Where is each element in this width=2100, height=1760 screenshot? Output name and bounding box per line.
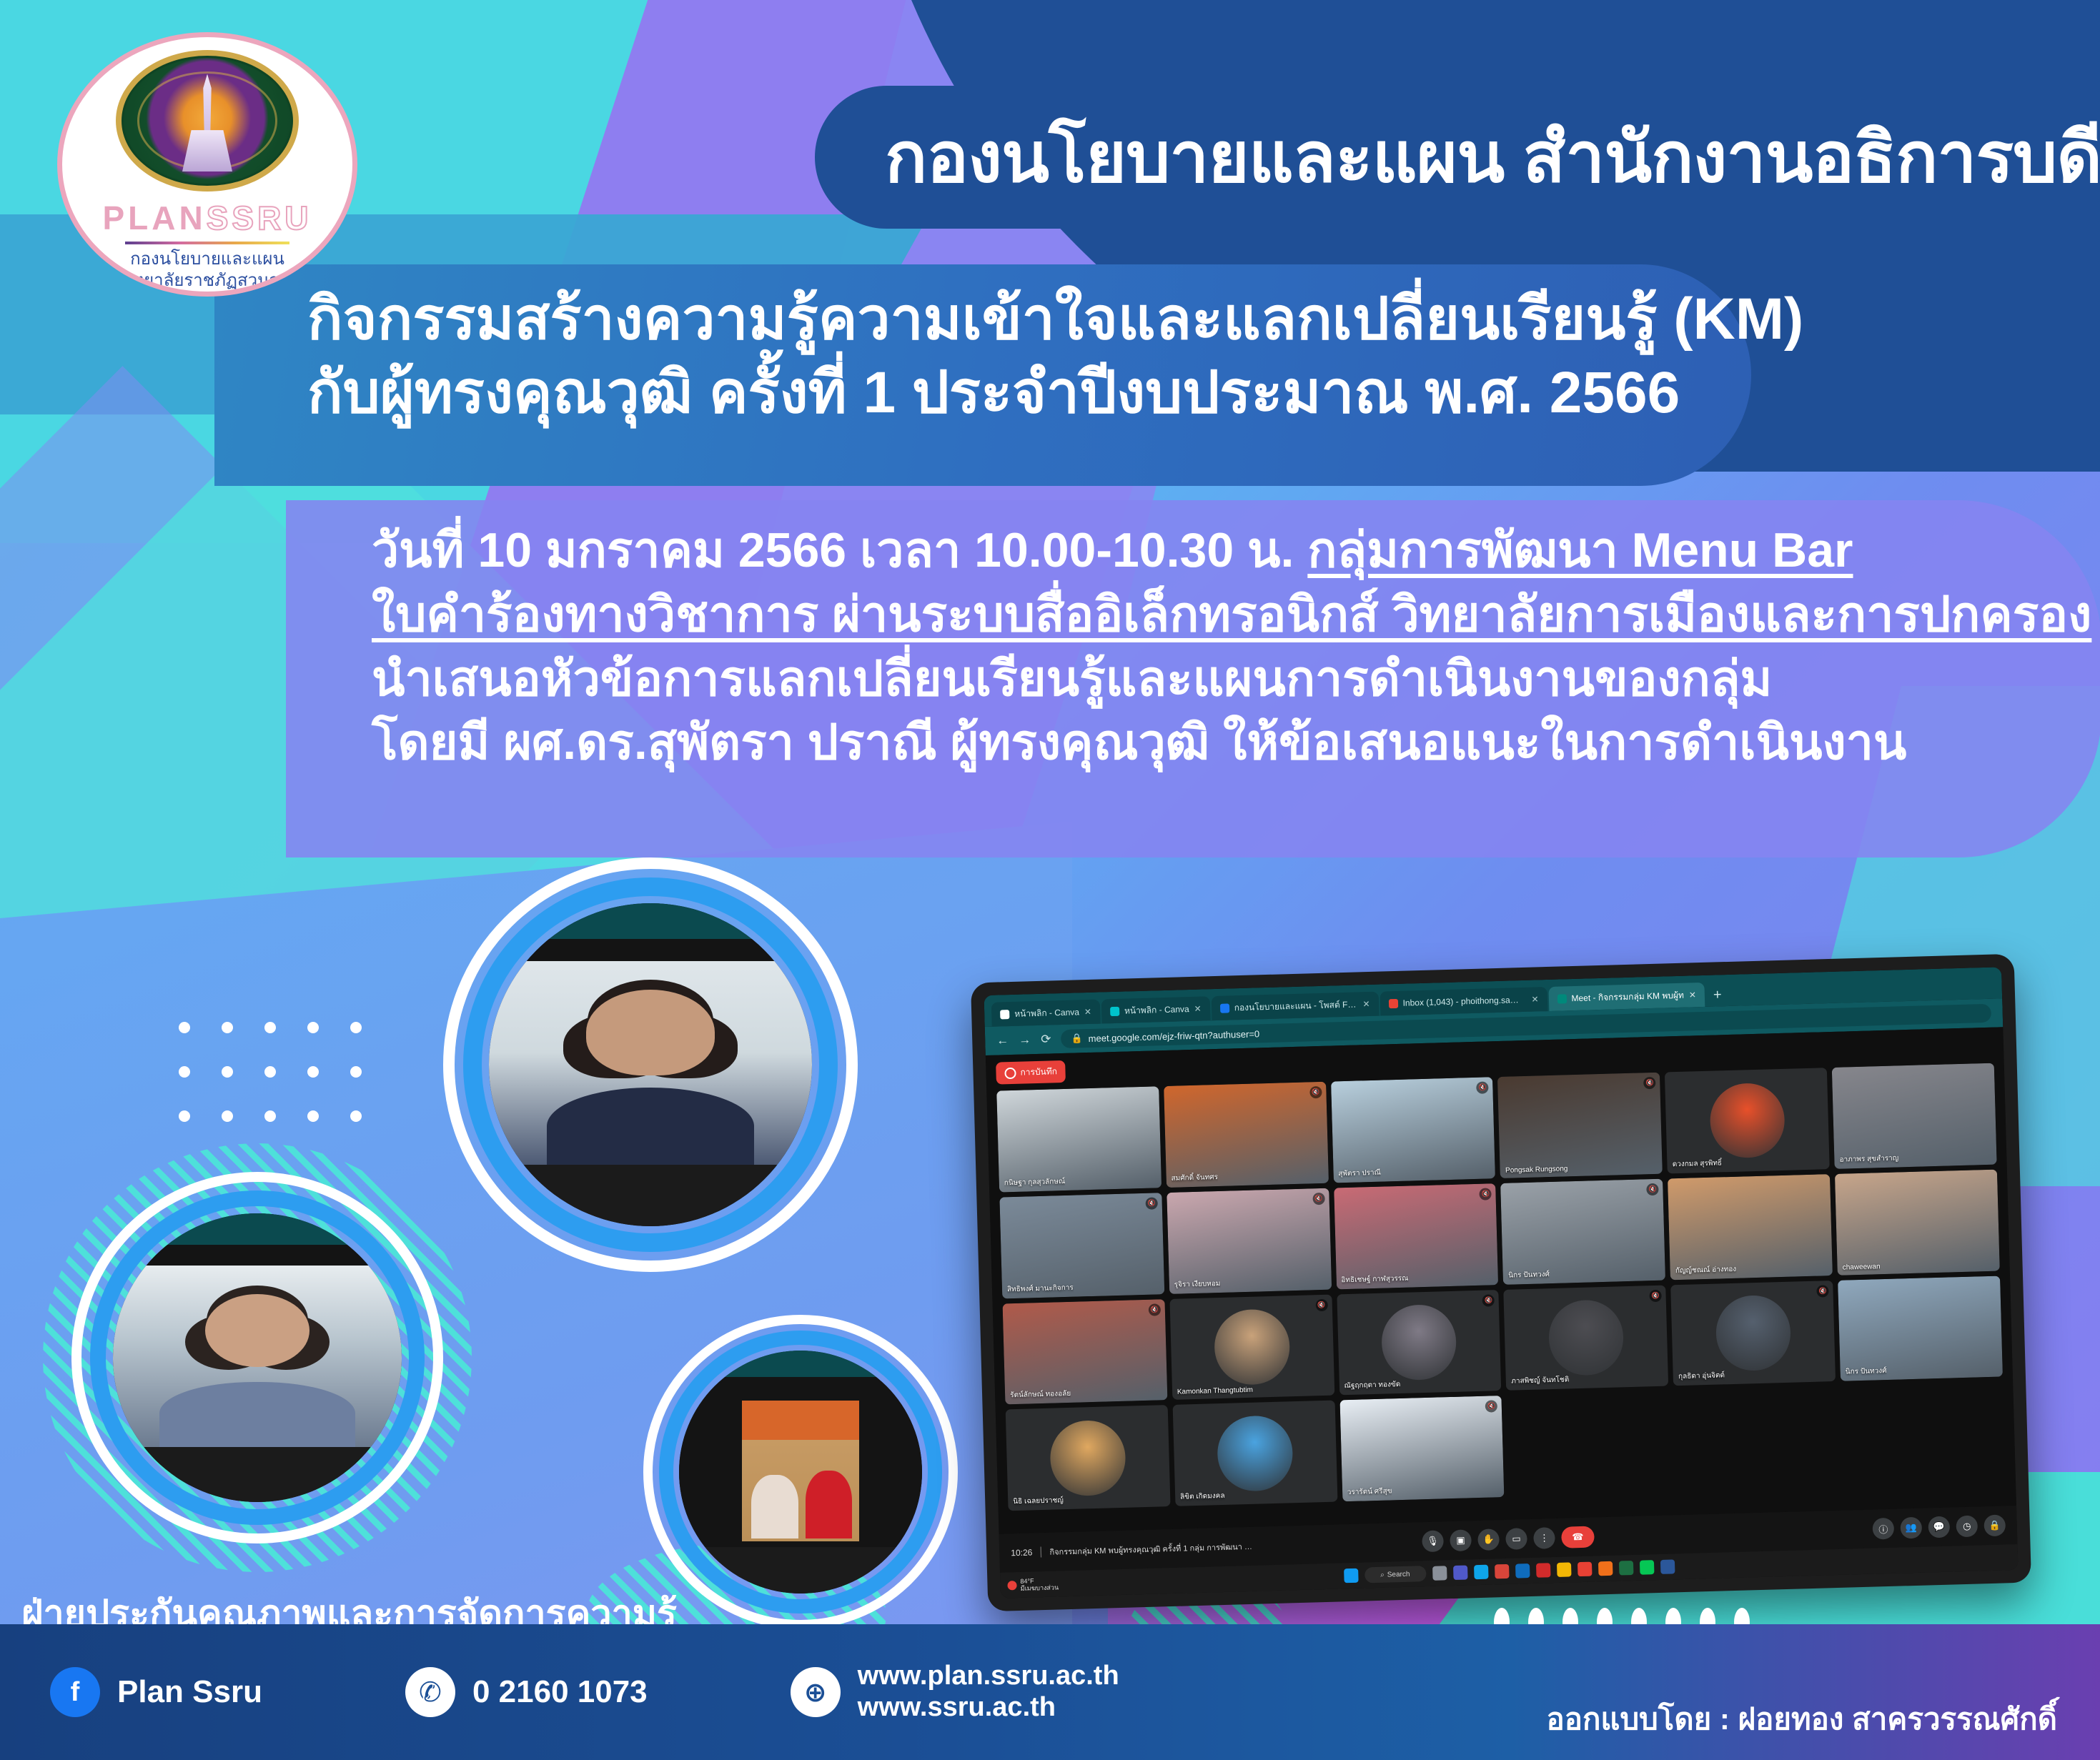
store-icon[interactable] — [1495, 1564, 1510, 1579]
participant-name: สิทธิพงศ์ มานะกิจการ — [1007, 1282, 1074, 1295]
participant-video — [1164, 1082, 1329, 1188]
participant-video — [1668, 1174, 1833, 1280]
mic-icon[interactable]: 🎙 — [1422, 1530, 1444, 1552]
avatar — [1709, 1083, 1786, 1159]
mic-muted-icon: 🔇 — [1148, 1303, 1160, 1316]
meet-right-controls: ⓘ 👥 💬 ◷ 🔒 — [1872, 1514, 2006, 1539]
end-call-icon[interactable]: ☎ — [1561, 1526, 1595, 1548]
body-line-4: โดยมี ผศ.ดร.สุพัตรา ปราณี ผู้ทรงคุณวุฒิ … — [372, 711, 2100, 775]
activities-icon[interactable]: ◷ — [1956, 1516, 1978, 1538]
phone-icon: ✆ — [405, 1667, 455, 1717]
participant-tile[interactable]: ดวงกมล สุรพิทธิ์ — [1665, 1068, 1830, 1173]
participant-video — [996, 1086, 1162, 1192]
participant-tile[interactable]: 🔇Kamonkan Thangtubtim — [1169, 1294, 1334, 1400]
weather-temp: 84°F — [1020, 1577, 1034, 1585]
more-icon[interactable]: ⋮ — [1533, 1527, 1555, 1549]
mic-muted-icon: 🔇 — [1309, 1086, 1322, 1098]
browser-tab-label: กองนโยบายและแผน - โพสต์ Facebook — [1234, 998, 1357, 1015]
avatar — [1715, 1295, 1791, 1371]
avatar — [1381, 1304, 1457, 1381]
meet-separator: | — [1039, 1546, 1043, 1558]
logo-subtitle-line1: กองนโยบายและแผน — [91, 249, 325, 270]
close-icon[interactable]: ✕ — [1194, 1004, 1201, 1014]
reload-icon[interactable]: ⟳ — [1041, 1032, 1051, 1046]
meet-controls: 🎙 ▣ ✋ ▭ ⋮ ☎ — [1422, 1526, 1595, 1553]
participant-tile[interactable]: 🔇สุพัตรา ปราณี — [1331, 1077, 1496, 1183]
body-line-1: วันที่ 10 มกราคม 2566 เวลา 10.00-10.30 น… — [372, 519, 2100, 583]
taskbar-search-label: Search — [1387, 1570, 1410, 1578]
participant-video — [1832, 1063, 1997, 1169]
participant-name: นิกร ปันทวงศ์ — [1846, 1366, 1887, 1378]
body-detail-band: วันที่ 10 มกราคม 2566 เวลา 10.00-10.30 น… — [286, 500, 2100, 857]
footer-website[interactable]: ⊕ www.plan.ssru.ac.th www.ssru.ac.th — [791, 1661, 1119, 1723]
participant-name: สมศักดิ์ จันทศร — [1171, 1172, 1218, 1184]
participant-tile[interactable]: 🔇สิทธิพงศ์ มานะกิจการ — [999, 1193, 1164, 1298]
teams-icon[interactable] — [1453, 1565, 1468, 1580]
laptop-screenshot: หน้าพลิก - Canva✕หน้าพลิก - Canva✕กองนโย… — [971, 954, 2031, 1611]
participant-video — [1501, 1178, 1666, 1284]
footer-phone[interactable]: ✆ 0 2160 1073 — [405, 1667, 648, 1717]
chat-icon[interactable]: 💬 — [1928, 1516, 1950, 1538]
participant-tile[interactable]: 🔇นิกร ปันทวงศ์ — [1501, 1178, 1666, 1284]
mic-muted-icon: 🔇 — [1816, 1285, 1828, 1297]
meet-time: 10:26 — [1011, 1547, 1032, 1558]
logo-ssru-text: SSRU — [207, 199, 312, 237]
participant-photo-a — [489, 903, 812, 1226]
weather-desc: มีเมฆบางส่วน — [1021, 1583, 1059, 1591]
windows-start-icon[interactable] — [1344, 1568, 1359, 1583]
body-line-1-underlined: กลุ่มการพัฒนา Menu Bar — [1307, 523, 1853, 577]
participant-video — [1003, 1299, 1168, 1405]
dot-grid-decor — [179, 1022, 393, 1155]
mic-muted-icon: 🔇 — [1482, 1294, 1495, 1306]
search-icon: ⌕ — [1380, 1571, 1385, 1578]
participant-tile[interactable]: 🔇สมศักดิ์ จันทศร — [1164, 1082, 1329, 1188]
participant-tile[interactable]: 🔇ณัฐฤกฤตา ทองขัด — [1337, 1290, 1502, 1396]
mic-muted-icon: 🔇 — [1312, 1193, 1324, 1205]
recording-badge: การบันทึก — [996, 1060, 1066, 1085]
participant-tile[interactable]: 🔇ภาสพิชญ์ จันทโชติ — [1504, 1285, 1669, 1391]
browser-tab-label: หน้าพลิก - Canva — [1124, 1003, 1189, 1018]
logo-wordmark: PLANSSRU — [102, 199, 312, 237]
firefox-icon[interactable] — [1598, 1561, 1613, 1576]
university-logo: PLANSSRU กองนโยบายและแผน มหาวิทยาลัยราชภ… — [57, 32, 357, 297]
tab-favicon-icon — [1220, 1003, 1229, 1013]
mic-muted-icon: 🔇 — [1650, 1289, 1662, 1301]
footer-web-1: www.plan.ssru.ac.th — [858, 1661, 1119, 1692]
meet-title: กิจกรรมกลุ่ม KM พบผู้ทรงคุณวุฒิ ครั้งที่… — [1049, 1540, 1252, 1558]
close-icon[interactable]: ✕ — [1531, 994, 1538, 1004]
facebook-icon: f — [50, 1667, 100, 1717]
people-icon[interactable]: 👥 — [1900, 1517, 1922, 1539]
close-icon[interactable]: ✕ — [1084, 1007, 1091, 1017]
browser-tab-label: Meet - กิจกรรมกลุ่ม KM พบผู้ท — [1571, 988, 1684, 1005]
participant-tile[interactable]: ลิขิต เกิดมงคล — [1172, 1401, 1337, 1506]
chrome-icon[interactable] — [1577, 1562, 1592, 1577]
header-title-band: กองนโยบายและแผน สำนักงานอธิการบดี — [815, 86, 2100, 229]
participant-tile[interactable]: 🔇วรารัตน์ ศรีสุข — [1339, 1396, 1505, 1501]
record-dot-icon — [1004, 1067, 1016, 1078]
participant-name: Kamonkan Thangtubtim — [1177, 1386, 1253, 1396]
participant-name: รัตน์ลักษณ์ ทองอลัย — [1010, 1388, 1071, 1401]
camera-icon[interactable]: ▣ — [1450, 1529, 1472, 1551]
participant-video — [999, 1193, 1164, 1298]
subtitle-line-1: กิจกรรมสร้างความรู้ความเข้าใจและแลกเปลี่… — [307, 283, 1751, 357]
participant-name: อาภาพร สุขสำราญ — [1839, 1153, 1898, 1165]
participant-name: chaweewan — [1843, 1263, 1881, 1271]
edge-icon[interactable] — [1474, 1565, 1489, 1580]
participant-tile[interactable]: chaweewan — [1835, 1169, 2000, 1275]
participant-grid: กนิษฐา กุลสุวลักษณ์🔇สมศักดิ์ จันทศร🔇สุพั… — [996, 1063, 2006, 1511]
avatar — [1217, 1415, 1293, 1491]
meeting-details-icon[interactable]: ⓘ — [1872, 1518, 1894, 1540]
raise-hand-icon[interactable]: ✋ — [1477, 1528, 1500, 1551]
participant-photo-c — [679, 1351, 922, 1594]
page-title: กองนโยบายและแผน สำนักงานอธิการบดี — [885, 101, 2100, 213]
body-line-2: ใบคำร้องทางวิชาการ ผ่านระบบสื่ออิเล็กทรอ… — [372, 583, 2100, 647]
close-icon[interactable]: ✕ — [1362, 999, 1370, 1009]
footer-phone-label: 0 2160 1073 — [472, 1674, 648, 1710]
participant-name: ลิขิต เกิดมงคล — [1180, 1491, 1225, 1503]
tab-favicon-icon — [1110, 1006, 1119, 1015]
avatar — [1547, 1300, 1624, 1376]
excel-icon[interactable] — [1618, 1561, 1633, 1576]
footer-facebook-label: Plan Ssru — [117, 1674, 262, 1710]
browser-window: หน้าพลิก - Canva✕หน้าพลิก - Canva✕กองนโย… — [984, 967, 2018, 1598]
participant-name: กัญญ์ชณณ์ อ่างทอง — [1675, 1263, 1737, 1276]
weather-icon — [1007, 1581, 1016, 1590]
body-line-3: นำเสนอหัวข้อการแลกเปลี่ยนเรียนรู้และแผนก… — [372, 647, 2100, 712]
browser-tab-label: Inbox (1,043) - phoithong.sa@ss — [1402, 995, 1526, 1008]
participant-name: ณัฐฤกฤตา ทองขัด — [1344, 1379, 1400, 1391]
acrobat-icon[interactable] — [1535, 1563, 1550, 1578]
url-text: meet.google.com/ejz-friw-qtn?authuser=0 — [1088, 1028, 1259, 1044]
participant-name: ดวงกมล สุรพิทธิ์ — [1673, 1158, 1723, 1170]
body-line-1-plain: วันที่ 10 มกราคม 2566 เวลา 10.00-10.30 น… — [372, 523, 1307, 577]
browser-tab[interactable]: หน้าพลิก - Canva✕ — [1101, 996, 1211, 1023]
participant-tile[interactable]: 🔇รุจิรา เงียบหอม — [1167, 1188, 1332, 1293]
participant-name: สุพัตรา ปราณี — [1338, 1167, 1381, 1179]
participant-name: นิธิ เฉลยปราชญ์ — [1013, 1495, 1064, 1507]
tab-favicon-icon — [1388, 998, 1397, 1008]
tab-favicon-icon — [1000, 1010, 1009, 1019]
participant-name: กุลธิดา อุ่นจิตต์ — [1678, 1371, 1725, 1383]
participant-video — [1334, 1183, 1499, 1289]
participant-video — [1331, 1077, 1496, 1183]
lock-icon: 🔒 — [1071, 1033, 1083, 1044]
participant-video — [1835, 1169, 2000, 1275]
participant-video — [1167, 1188, 1332, 1293]
back-icon[interactable]: ← — [996, 1033, 1009, 1048]
line-icon[interactable] — [1639, 1560, 1654, 1575]
browser-tab[interactable]: หน้าพลิก - Canva✕ — [991, 1000, 1101, 1027]
word-icon[interactable] — [1660, 1559, 1675, 1574]
poster-canvas: PLANSSRU กองนโยบายและแผน มหาวิทยาลัยราชภ… — [0, 0, 2100, 1760]
mic-muted-icon: 🔇 — [1315, 1298, 1327, 1311]
host-controls-icon[interactable]: 🔒 — [1983, 1514, 2006, 1536]
avatar — [1214, 1309, 1290, 1386]
participant-photo-b — [113, 1213, 402, 1502]
task-view-icon[interactable] — [1432, 1566, 1447, 1581]
new-tab-button[interactable]: + — [1706, 987, 1729, 1007]
logo-divider — [125, 242, 289, 244]
participant-video — [1838, 1276, 2003, 1381]
tab-favicon-icon — [1557, 994, 1566, 1003]
close-icon[interactable]: ✕ — [1689, 990, 1696, 1000]
browser-tab-label: หน้าพลิก - Canva — [1014, 1005, 1079, 1021]
participant-name: กนิษฐา กุลสุวลักษณ์ — [1004, 1176, 1066, 1188]
participant-tile[interactable]: กัญญ์ชณณ์ อ่างทอง — [1668, 1174, 1833, 1280]
subtitle-line-2: กับผู้ทรงคุณวุฒิ ครั้งที่ 1 ประจำปีงบประ… — [307, 357, 1751, 430]
participant-tile[interactable]: กนิษฐา กุลสุวลักษณ์ — [996, 1086, 1162, 1192]
avatar — [1049, 1420, 1126, 1496]
taskbar-search-box[interactable]: ⌕ Search — [1364, 1566, 1427, 1583]
globe-icon: ⊕ — [791, 1667, 841, 1717]
participant-name: อิทธิเชษฐ์ กาฬสุวรรณ — [1341, 1273, 1408, 1286]
footer-facebook[interactable]: f Plan Ssru — [50, 1667, 262, 1717]
outlook-icon[interactable] — [1515, 1563, 1530, 1578]
forward-icon[interactable]: → — [1019, 1033, 1031, 1047]
participant-tile[interactable]: อาภาพร สุขสำราญ — [1832, 1063, 1997, 1169]
present-icon[interactable]: ▭ — [1505, 1528, 1527, 1550]
logo-plan-text: PLAN — [102, 199, 206, 237]
participant-name: รุจิรา เงียบหอม — [1174, 1278, 1221, 1290]
participant-name: นิกร ปันทวงศ์ — [1508, 1269, 1550, 1281]
mic-muted-icon: 🔇 — [1145, 1197, 1157, 1209]
body-line-2-underlined: ใบคำร้องทางวิชาการ ผ่านระบบสื่ออิเล็กทรอ… — [372, 587, 2091, 642]
participant-video — [1497, 1073, 1663, 1178]
subtitle-band: กิจกรรมสร้างความรู้ความเข้าใจและแลกเปลี่… — [214, 264, 1751, 486]
participant-tile[interactable]: 🔇รัตน์ลักษณ์ ทองอลัย — [1003, 1299, 1168, 1405]
recording-label: การบันทึก — [1020, 1065, 1057, 1079]
participant-tile[interactable]: 🔇อิทธิเชษฐ์ กาฬสุวรรณ — [1334, 1183, 1499, 1289]
participant-name: วรารัตน์ ศรีสุข — [1347, 1486, 1392, 1498]
meet-stage: การบันทึก กนิษฐา กุลสุวลักษณ์🔇สมศักดิ์ จ… — [986, 1027, 2016, 1533]
participant-tile[interactable]: นิกร ปันทวงศ์ — [1838, 1276, 2003, 1381]
participant-video — [1339, 1396, 1505, 1501]
participant-tile[interactable]: 🔇กุลธิดา อุ่นจิตต์ — [1671, 1281, 1836, 1386]
participant-name: ภาสพิชญ์ จันทโชติ — [1511, 1375, 1569, 1387]
participant-tile[interactable]: 🔇Pongsak Rungsong — [1497, 1073, 1663, 1178]
footer-web-2: www.ssru.ac.th — [858, 1692, 1119, 1724]
university-seal-icon — [116, 50, 299, 192]
taskbar-weather[interactable]: 84°F มีเมฆบางส่วน — [1007, 1576, 1059, 1593]
participant-tile[interactable]: นิธิ เฉลยปราชญ์ — [1006, 1405, 1171, 1511]
designer-credit: ออกแบบโดย : ฝอยทอง สาครวรรณศักดิ์ — [1547, 1696, 2057, 1743]
file-explorer-icon[interactable] — [1556, 1562, 1571, 1577]
